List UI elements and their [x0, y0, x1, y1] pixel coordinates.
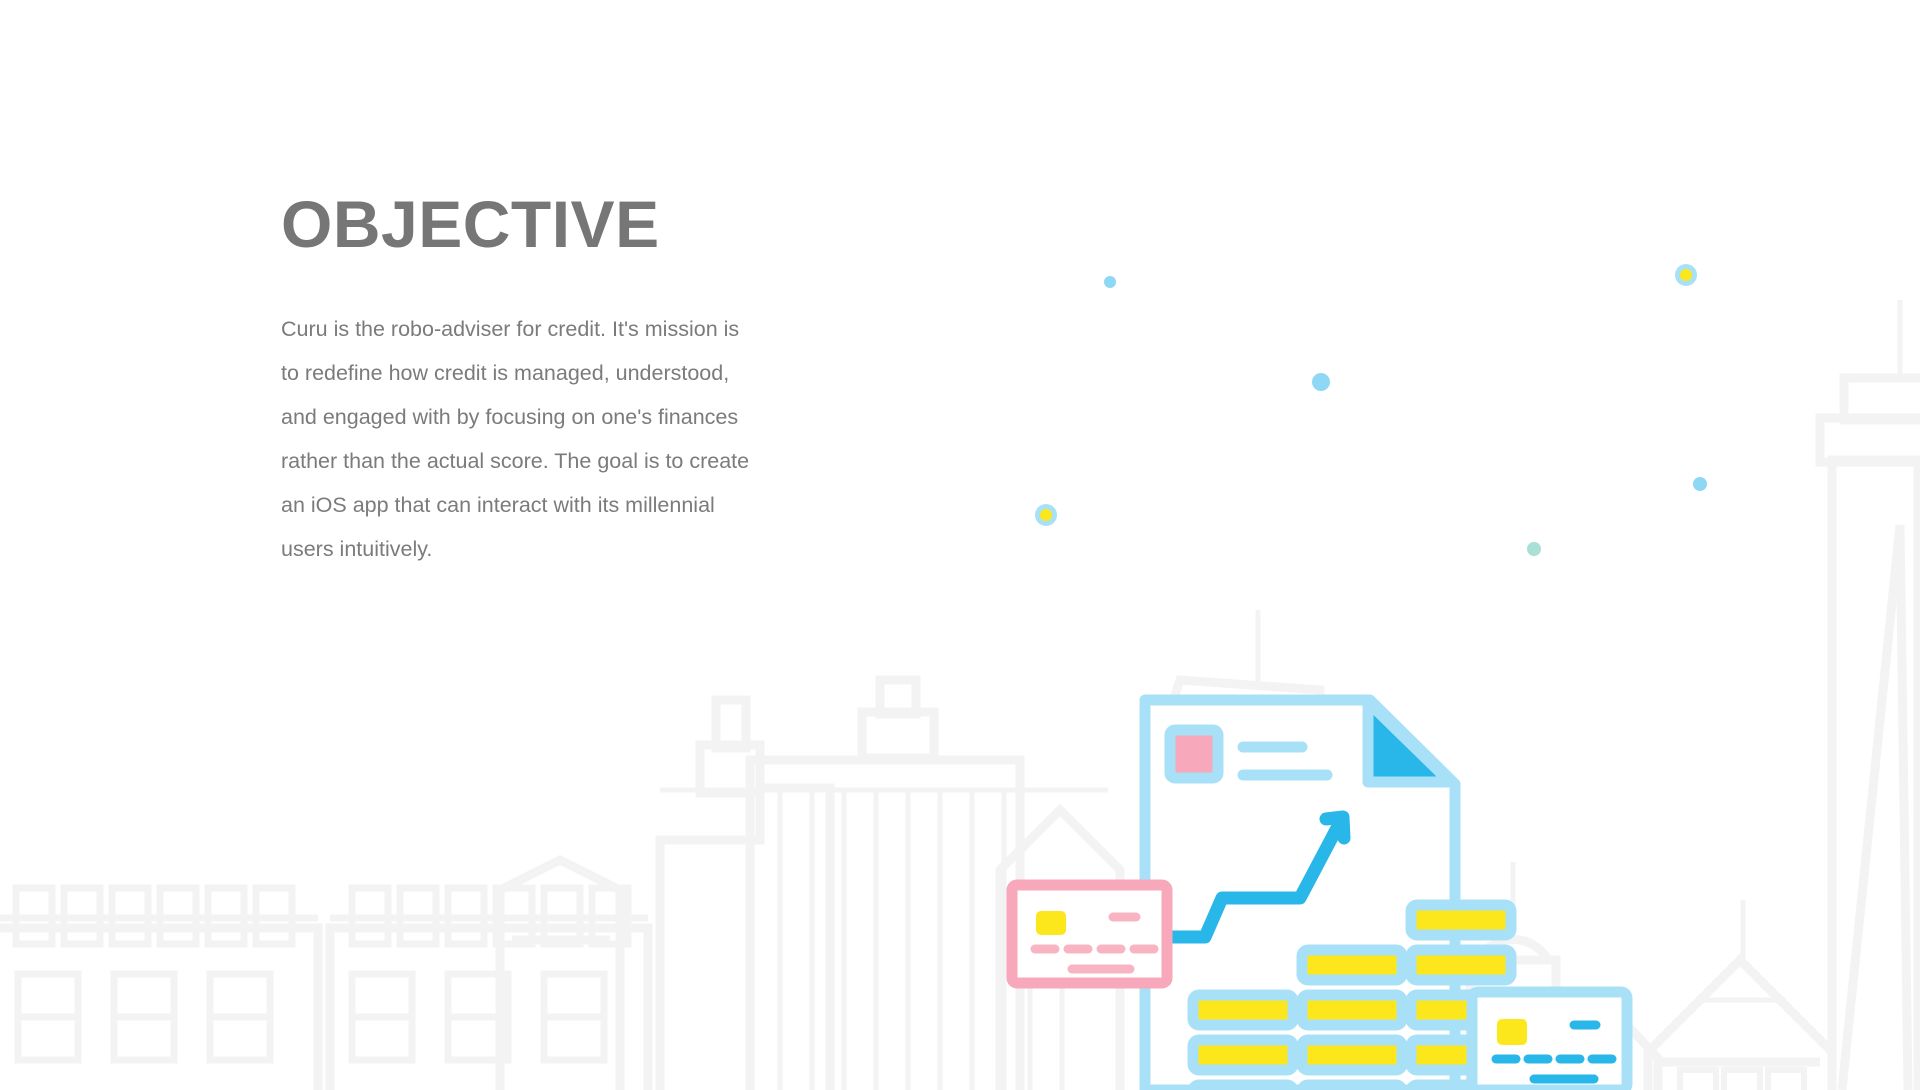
document-card [1145, 700, 1455, 1090]
bar-column-1 [1193, 995, 1293, 1090]
growth-arrow [1170, 817, 1344, 937]
dot-blue-tiny [1693, 477, 1707, 491]
dot-yellow-ring-2 [1035, 504, 1057, 526]
card-chip-yellow-2 [1497, 1019, 1527, 1045]
stacked-bar-chart [1193, 905, 1511, 1090]
credit-card-blue [1472, 992, 1627, 1090]
bar-column-3 [1411, 905, 1511, 1090]
document-badge [1170, 730, 1218, 778]
objective-paragraph: Curu is the robo-adviser for credit. It'… [281, 307, 756, 571]
dot-yellow-core [1680, 269, 1692, 281]
dot-green-small [1527, 542, 1541, 556]
slide-canvas: OBJECTIVE Curu is the robo-adviser for c… [0, 0, 1920, 1090]
dot-blue-medium [1312, 373, 1330, 391]
dot-blue-small [1104, 276, 1116, 288]
text-column: OBJECTIVE Curu is the robo-adviser for c… [281, 190, 761, 571]
document-header [1170, 730, 1327, 778]
dot-yellow-core-2 [1040, 509, 1052, 521]
bar-column-2 [1302, 950, 1402, 1090]
card-chip-yellow [1036, 911, 1066, 935]
page-title: OBJECTIVE [281, 190, 761, 259]
credit-card-pink [1012, 885, 1167, 983]
decorative-dots [1035, 264, 1707, 556]
dot-yellow-ring [1675, 264, 1697, 286]
